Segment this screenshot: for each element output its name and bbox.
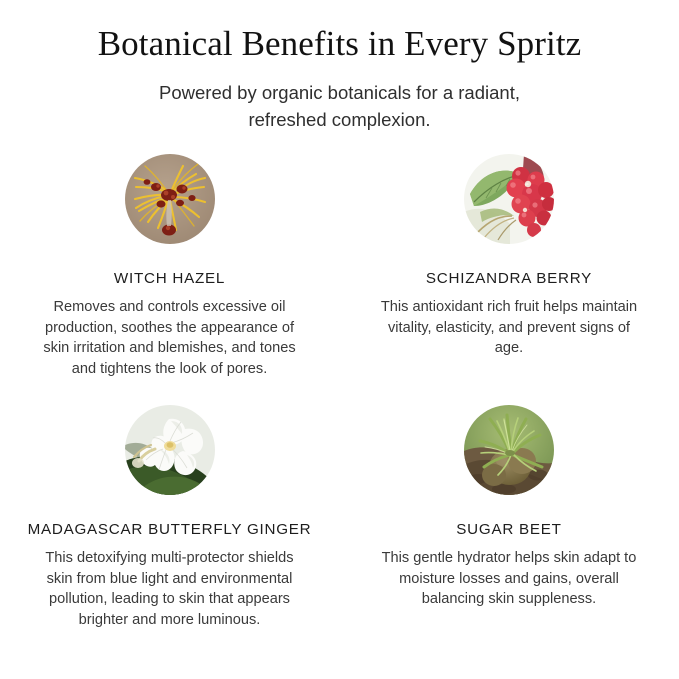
madagascar-butterfly-ginger-photo [125, 405, 215, 495]
ingredients-grid: WITCH HAZEL Removes and controls excessi… [0, 154, 679, 630]
witch-hazel-photo [125, 154, 215, 244]
ingredient-card-witch-hazel: WITCH HAZEL Removes and controls excessi… [0, 154, 339, 379]
ingredient-title: WITCH HAZEL [114, 270, 225, 287]
ingredient-card-sugar-beet: SUGAR BEET This gentle hydrator helps sk… [339, 405, 679, 630]
page-title: Botanical Benefits in Every Spritz [0, 22, 679, 66]
ingredient-card-schizandra-berry: SCHIZANDRA BERRY This antioxidant rich f… [339, 154, 679, 379]
sugar-beet-photo [464, 405, 554, 495]
ingredient-title: MADAGASCAR BUTTERFLY GINGER [28, 521, 312, 538]
ingredient-title: SCHIZANDRA BERRY [426, 270, 592, 287]
ingredient-card-madagascar-butterfly-ginger: MADAGASCAR BUTTERFLY GINGER This detoxif… [0, 405, 339, 630]
botanical-benefits-page: Botanical Benefits in Every Spritz Power… [0, 0, 679, 679]
page-subtitle: Powered by organic botanicals for a radi… [125, 79, 555, 133]
ingredient-description: This gentle hydrator helps skin adapt to… [375, 548, 643, 610]
ingredient-description: This antioxidant rich fruit helps mainta… [375, 297, 643, 359]
ingredient-description: Removes and controls excessive oil produ… [36, 297, 304, 379]
page-header: Botanical Benefits in Every Spritz Power… [0, 0, 679, 133]
ingredient-title: SUGAR BEET [456, 521, 561, 538]
ingredient-description: This detoxifying multi-protector shields… [34, 548, 306, 630]
schizandra-berry-photo [464, 154, 554, 244]
